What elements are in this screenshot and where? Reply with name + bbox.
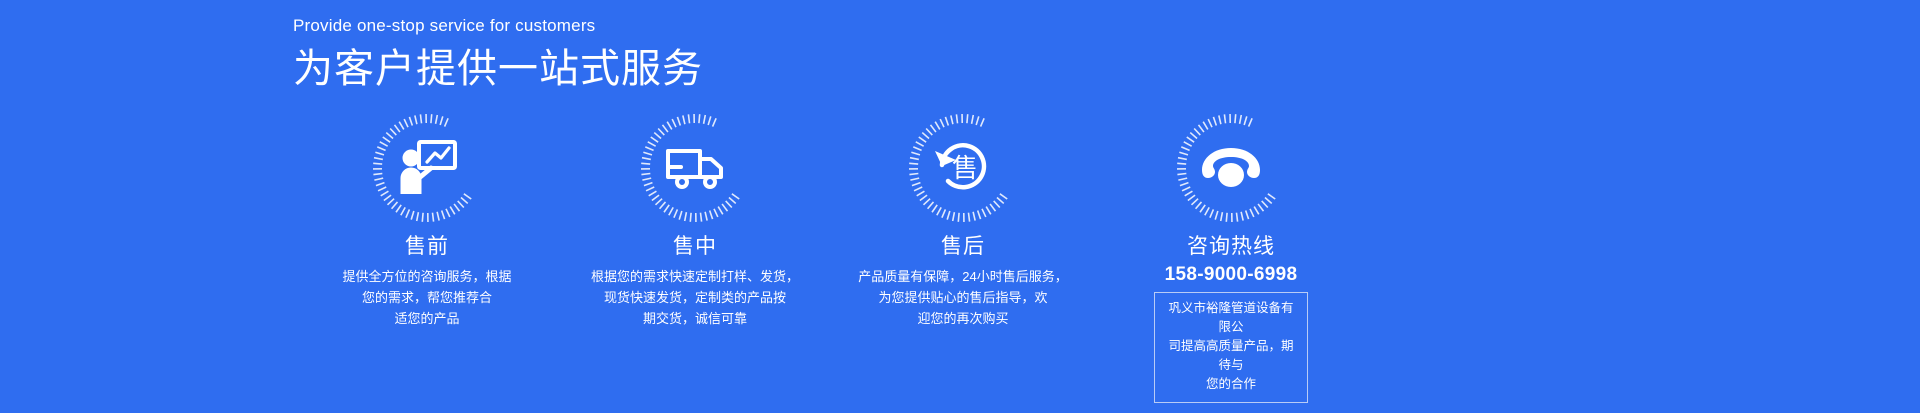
hotline-title: 咨询热线 [1187, 232, 1275, 262]
service-column-pre-sale[interactable]: 售前 提供全方位的咨询服务，根据 您的需求，帮您推荐合 适您的产品 [293, 112, 561, 329]
heading-block: Provide one-stop service for customers 为… [293, 14, 1193, 95]
desc-line: 期交货，诚信可靠 [575, 308, 815, 329]
service-description: 产品质量有保障，24小时售后服务， 为您提供贴心的售后指导，欢 迎您的再次购买 [843, 266, 1083, 329]
hotline-number[interactable]: 158-9000-6998 [1165, 263, 1298, 287]
page-title: 为客户提供一站式服务 [293, 43, 1193, 95]
company-slogan-box: 巩义市裕隆管道设备有限公 司提高高质量产品，期待与 您的合作 [1154, 292, 1308, 403]
delivery-truck-icon [664, 137, 726, 199]
heading-subtitle-en: Provide one-stop service for customers [293, 14, 1193, 38]
slogan-line: 司提高高质量产品，期待与 [1165, 337, 1297, 375]
desc-line: 现货快速发货，定制类的产品按 [575, 287, 815, 308]
service-banner: Provide one-stop service for customers 为… [0, 0, 1920, 413]
icon-container [1175, 112, 1287, 224]
icon-container: 售 [907, 112, 1019, 224]
service-description: 提供全方位的咨询服务，根据 您的需求，帮您推荐合 适您的产品 [307, 266, 547, 329]
service-column-after-sale[interactable]: 售 售后 产品质量有保障，24小时售后服务， 为您提供贴心的售后指导，欢 迎您的… [829, 112, 1097, 329]
desc-line: 您的需求，帮您推荐合 [307, 287, 547, 308]
service-description: 根据您的需求快速定制打样、发货， 现货快速发货，定制类的产品按 期交货，诚信可靠 [575, 266, 815, 329]
svg-text:售: 售 [952, 153, 978, 183]
desc-line: 迎您的再次购买 [843, 308, 1083, 329]
contact-column-hotline[interactable]: 咨询热线 158-9000-6998 巩义市裕隆管道设备有限公 司提高高质量产品… [1097, 112, 1365, 403]
icon-container [639, 112, 751, 224]
after-sale-return-icon: 售 [932, 137, 994, 199]
slogan-line: 您的合作 [1165, 375, 1297, 394]
service-title: 售中 [673, 232, 717, 262]
telephone-icon [1200, 137, 1262, 199]
service-title: 售前 [405, 232, 449, 262]
presenter-whiteboard-icon [396, 137, 458, 199]
desc-line: 适您的产品 [307, 308, 547, 329]
desc-line: 为您提供贴心的售后指导，欢 [843, 287, 1083, 308]
desc-line: 产品质量有保障，24小时售后服务， [843, 266, 1083, 287]
service-column-in-sale[interactable]: 售中 根据您的需求快速定制打样、发货， 现货快速发货，定制类的产品按 期交货，诚… [561, 112, 829, 329]
slogan-line: 巩义市裕隆管道设备有限公 [1165, 299, 1297, 337]
desc-line: 根据您的需求快速定制打样、发货， [575, 266, 815, 287]
icon-container [371, 112, 483, 224]
service-title: 售后 [941, 232, 985, 262]
desc-line: 提供全方位的咨询服务，根据 [307, 266, 547, 287]
service-columns: 售前 提供全方位的咨询服务，根据 您的需求，帮您推荐合 适您的产品 [293, 112, 1633, 403]
